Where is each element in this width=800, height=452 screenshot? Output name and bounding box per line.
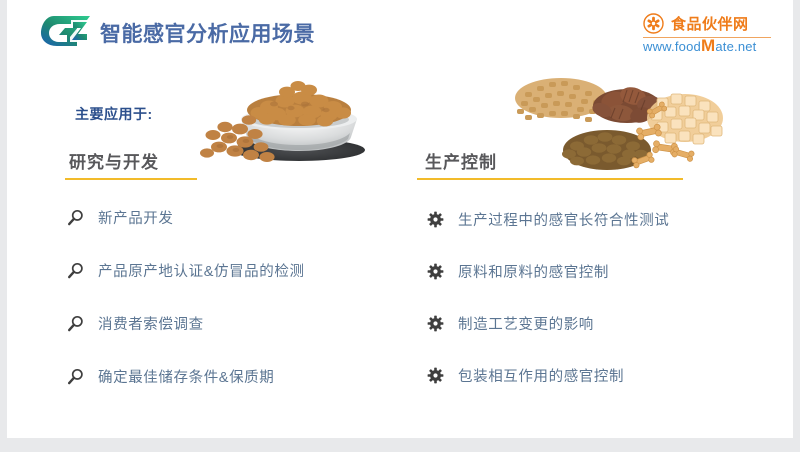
research-bullet-list: 新产品开发 产品原产地认证&仿冒品的检测 消费者索偿调查 xyxy=(67,191,397,403)
foodmate-url-mark: M xyxy=(701,36,715,55)
page-bottom-margin xyxy=(0,438,800,452)
column-rule-research xyxy=(65,178,197,180)
page-title: 智能感官分析应用场景 xyxy=(100,18,315,48)
list-item-label: 新产品开发 xyxy=(98,207,174,228)
slide-header: 智能感官分析应用场景 食品伙伴网 www.f xyxy=(7,0,793,62)
foodmate-url-suffix: ate.net xyxy=(715,39,756,54)
gear-icon xyxy=(427,211,444,228)
list-item-label: 产品原产地认证&仿冒品的检测 xyxy=(98,260,305,281)
list-item-label: 制造工艺变更的影响 xyxy=(458,313,594,334)
list-item-label: 包装相互作用的感官控制 xyxy=(458,365,624,386)
foodmate-flower-emblem-icon xyxy=(643,13,664,34)
slide-canvas: 智能感官分析应用场景 食品伙伴网 www.f xyxy=(7,0,793,438)
list-item[interactable]: 新产品开发 xyxy=(67,191,397,244)
list-item[interactable]: 生产过程中的感官长符合性测试 xyxy=(427,193,767,245)
column-heading-research: 研究与开发 xyxy=(69,148,159,173)
page-right-margin xyxy=(793,0,800,452)
column-rule-production xyxy=(417,178,683,180)
list-item[interactable]: 包装相互作用的感官控制 xyxy=(427,349,767,401)
gz-monogram-logo-icon xyxy=(40,14,92,48)
foodmate-url-prefix: www.food xyxy=(643,39,701,54)
magnifier-icon xyxy=(67,315,84,332)
list-item[interactable]: 确定最佳储存条件&保质期 xyxy=(67,350,397,403)
dog-food-bowl-photo xyxy=(199,73,377,165)
list-item[interactable]: 制造工艺变更的影响 xyxy=(427,297,767,349)
foodmate-watermark[interactable]: 食品伙伴网 www.foodMate.net xyxy=(643,11,771,53)
magnifier-icon xyxy=(67,209,84,226)
magnifier-icon xyxy=(67,262,84,279)
list-item-label: 确定最佳储存条件&保质期 xyxy=(98,366,274,387)
foodmate-name-cn: 食品伙伴网 xyxy=(671,13,749,34)
list-item[interactable]: 产品原产地认证&仿冒品的检测 xyxy=(67,244,397,297)
list-item-label: 原料和原料的感官控制 xyxy=(458,261,609,282)
foodmate-url[interactable]: www.foodMate.net xyxy=(643,39,771,54)
column-heading-production: 生产控制 xyxy=(425,148,497,173)
list-item-label: 生产过程中的感官长符合性测试 xyxy=(458,209,669,230)
gear-icon xyxy=(427,315,444,332)
intro-label: 主要应用于: xyxy=(75,104,153,124)
pet-food-assortment-photo xyxy=(499,68,727,172)
magnifier-icon xyxy=(67,368,84,385)
list-item-label: 消费者索偿调查 xyxy=(98,313,204,334)
list-item[interactable]: 原料和原料的感官控制 xyxy=(427,245,767,297)
page-left-margin xyxy=(0,0,7,452)
production-bullet-list: 生产过程中的感官长符合性测试 原料和原料的感官控制 xyxy=(427,193,767,401)
list-item[interactable]: 消费者索偿调查 xyxy=(67,297,397,350)
gear-icon xyxy=(427,367,444,384)
foodmate-name-row: 食品伙伴网 xyxy=(643,11,771,35)
gear-icon xyxy=(427,263,444,280)
